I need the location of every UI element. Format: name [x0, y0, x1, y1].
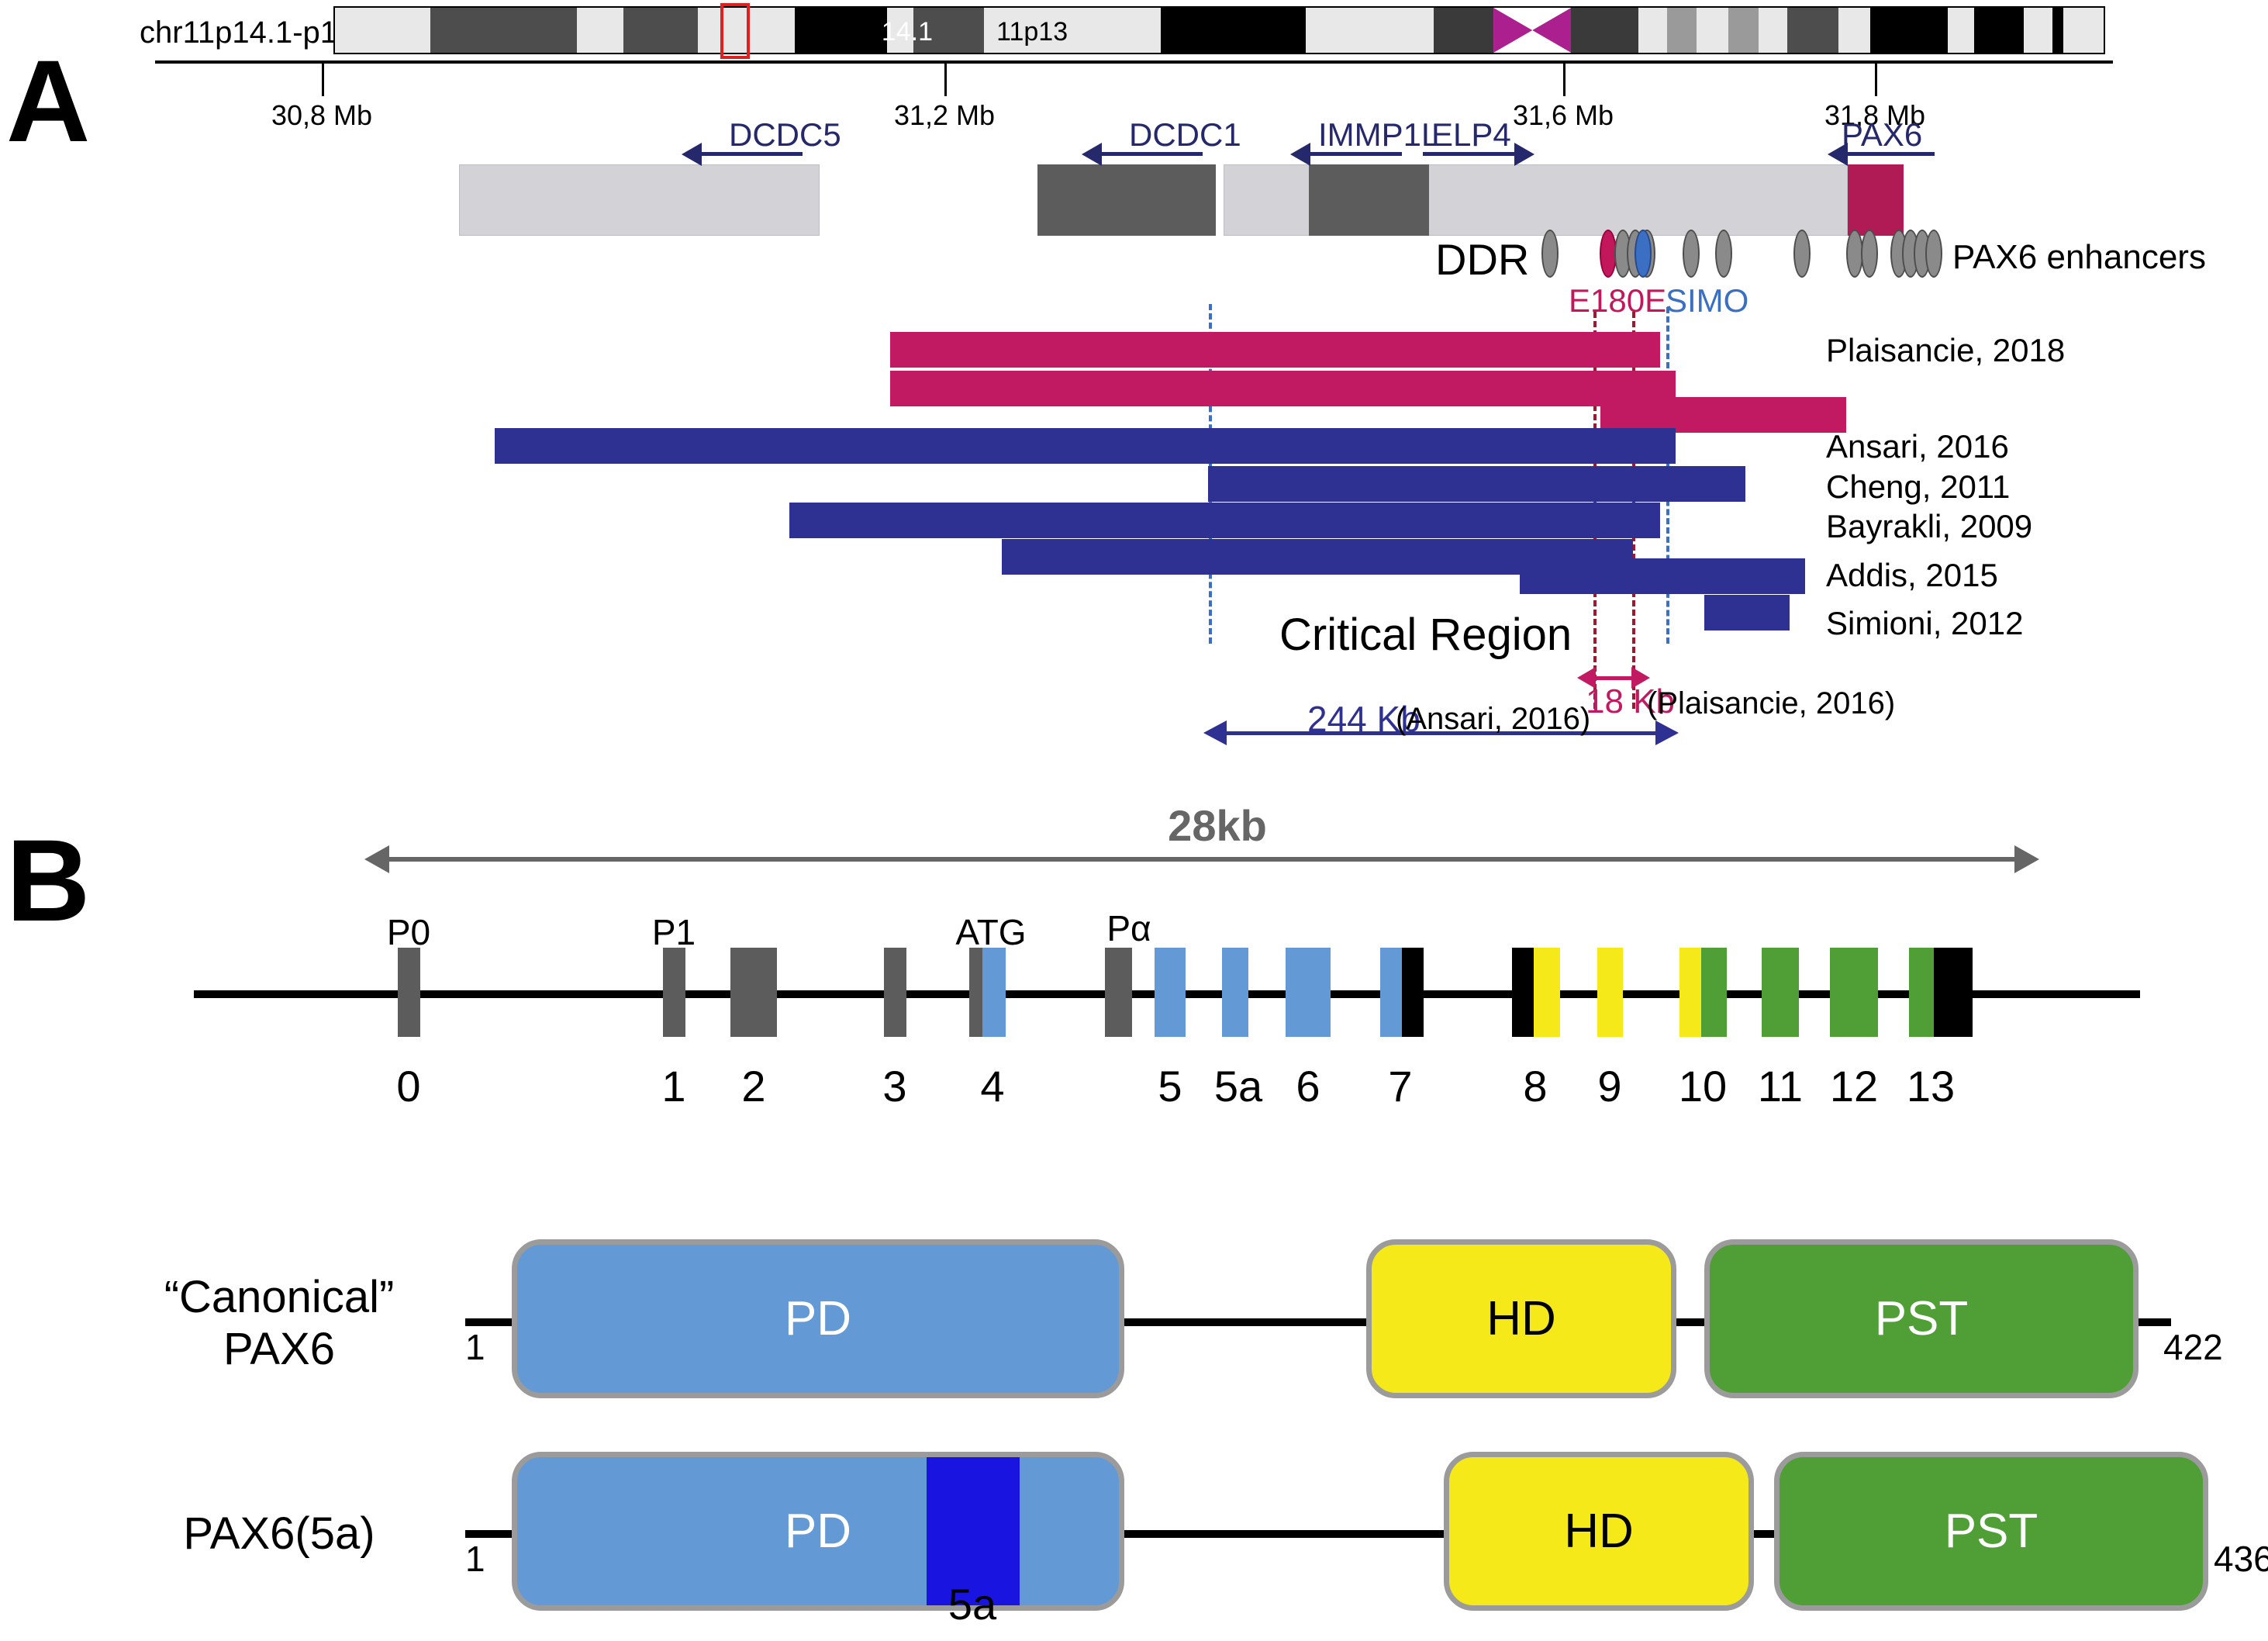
ideogram-band — [1161, 8, 1306, 53]
atg-label: ATG — [955, 911, 1026, 953]
enhancer-oval — [1861, 230, 1878, 278]
exon-label-12: 12 — [1830, 1061, 1878, 1111]
deletion-bar — [1208, 466, 1745, 502]
measure-arrow-244kb-head-right — [1655, 720, 1679, 745]
exon-label-7: 7 — [1388, 1061, 1412, 1111]
aa-start-canonical: 1 — [465, 1326, 485, 1368]
enhancer-oval — [1683, 230, 1700, 278]
deletion-bar — [890, 332, 1660, 368]
ruler-tick — [1875, 64, 1877, 96]
ideogram-band — [1306, 8, 1433, 53]
panel-b-letter: B — [6, 822, 90, 938]
ideogram-band — [1787, 8, 1838, 53]
ideogram-band — [1948, 8, 1974, 53]
ideogram-band — [623, 8, 698, 53]
ideogram-band — [2052, 8, 2063, 53]
strand-arrow-line-elp4 — [1423, 152, 1514, 156]
ideogram-band — [1434, 8, 1494, 53]
measure-arrow-244kb-head-left — [1203, 720, 1227, 745]
publication-label: Bayrakli, 2009 — [1826, 508, 2032, 545]
protein-domain-hd: HD — [1444, 1452, 1754, 1611]
simo-label: SIMO — [1666, 282, 1748, 320]
deletion-bar — [1520, 558, 1805, 594]
protein-domain-pd: PD — [512, 1452, 1124, 1611]
ruler-tick-label: 31,6 Mb — [1513, 99, 1614, 132]
isoform-label-line2: PAX6 — [223, 1324, 335, 1374]
exon-box-10 — [1701, 948, 1727, 1037]
ideogram-band — [2024, 8, 2052, 53]
exon-box-2 — [730, 948, 777, 1037]
publication-label: Addis, 2015 — [1826, 557, 1998, 594]
ruler-tick — [1563, 64, 1566, 96]
chromosome-ideogram: 14.1 11p13 — [333, 6, 2105, 54]
publication-label: Ansari, 2016 — [1826, 428, 2009, 465]
exon-label-4: 4 — [980, 1061, 1004, 1111]
panel-a-letter: A — [6, 43, 90, 159]
ideogram-band — [577, 8, 623, 53]
exon-box-11 — [1762, 948, 1799, 1037]
gene-label-pax6: PAX6 — [1842, 116, 1922, 154]
ideogram-label: chr11p14.1-p13 — [140, 16, 354, 50]
exon-box-7-cds-end — [1402, 948, 1424, 1037]
exon-box-1 — [663, 948, 685, 1037]
enhancer-oval — [1715, 230, 1732, 278]
exon-label-8: 8 — [1523, 1061, 1547, 1111]
deletion-bar — [1704, 595, 1790, 630]
exon-label-3: 3 — [882, 1061, 906, 1111]
strand-arrow-head-elp4 — [1514, 143, 1534, 166]
exon-box-7 — [1380, 948, 1402, 1037]
exon-label-13: 13 — [1907, 1061, 1955, 1111]
exon-label-2: 2 — [741, 1061, 765, 1111]
promoter-label-palpha: Pα — [1106, 907, 1151, 949]
pax6-enhancers-label: PAX6 enhancers — [1952, 238, 2206, 277]
enhancer-oval — [1793, 230, 1811, 278]
ddr-label: DDR — [1435, 234, 1529, 285]
exon-box-5a — [1222, 948, 1248, 1037]
enhancer-oval-simo — [1635, 230, 1652, 278]
gene-label-immp1l: IMMP1L — [1318, 116, 1439, 154]
ideogram-band — [1870, 8, 1948, 53]
ideogram-band — [1838, 8, 1870, 53]
isoform-label-line1: “Canonical” — [164, 1272, 395, 1322]
exon-label-9: 9 — [1597, 1061, 1621, 1111]
e180e-label: E180E — [1569, 282, 1666, 320]
scale-arrow-head-left — [364, 845, 389, 873]
publication-label: Cheng, 2011 — [1826, 468, 2010, 506]
ruler-tick-label: 30,8 Mb — [271, 99, 372, 132]
exon-label-0: 0 — [396, 1061, 420, 1111]
ideogram-band — [430, 8, 577, 53]
exon-box-10-utr — [1679, 948, 1701, 1037]
gene-region-dcdc1 — [1037, 164, 1216, 236]
cytoband-highlight-box — [720, 3, 750, 59]
ruler-tick — [944, 64, 947, 96]
enhancer-oval — [1925, 230, 1942, 278]
ideogram-band — [1974, 8, 2024, 53]
deletion-bar — [495, 428, 1676, 464]
genomic-ruler — [155, 60, 2113, 64]
publication-label: Plaisancie, 2018 — [1826, 332, 2065, 369]
strand-arrow-line-immp1l — [1310, 152, 1402, 156]
exon-box-4 — [982, 948, 1006, 1037]
protein-domain-pst: PST — [1774, 1452, 2208, 1611]
gene-region-immp1l — [1309, 164, 1429, 236]
exon-box-13 — [1909, 948, 1934, 1037]
ideogram-band — [1759, 8, 1786, 53]
measure-arrow-18kb-line — [1594, 676, 1631, 680]
ideogram-band — [795, 8, 887, 53]
promoter-label-p0: P0 — [387, 911, 430, 953]
isoform-label-canonical: “Canonical” PAX6 — [116, 1272, 442, 1375]
ideogram-band — [1728, 8, 1759, 53]
strand-arrow-head-dcdc5 — [682, 143, 702, 166]
enhancer-oval — [1541, 230, 1559, 278]
critical-region-label: Critical Region — [1279, 609, 1572, 661]
ideogram-band — [1571, 8, 1638, 53]
exon-box-8-utr — [1512, 948, 1534, 1037]
aa-end-canonical: 422 — [2163, 1326, 2223, 1368]
ruler-tick — [322, 64, 324, 96]
exon-label-5: 5 — [1158, 1061, 1182, 1111]
strand-arrow-line-pax6 — [1848, 152, 1935, 156]
gene-region-dcdc5 — [459, 164, 820, 236]
isoform-label-line1: PAX6(5a) — [183, 1508, 375, 1559]
ideogram-band — [1638, 8, 1666, 53]
cytoband-label-14-1: 14.1 — [882, 17, 933, 47]
cytoband-label-11p13: 11p13 — [996, 17, 1068, 47]
publication-label: Simioni, 2012 — [1826, 605, 2023, 642]
exon-label-5a: 5a — [1214, 1061, 1262, 1111]
exon-label-1: 1 — [661, 1061, 685, 1111]
exon-box-12 — [1830, 948, 1878, 1037]
exon-box-8 — [1534, 948, 1560, 1037]
ruler-tick-label: 31,2 Mb — [894, 99, 995, 132]
exon-box-5 — [1155, 948, 1186, 1037]
ideogram-band — [2063, 8, 2104, 53]
exon-label-10: 10 — [1679, 1061, 1727, 1111]
deletion-bar — [789, 503, 1660, 538]
measure-source-244kb: (Ansari, 2016) — [1396, 702, 1590, 737]
aa-end-pax6-5a: 436 — [2214, 1538, 2268, 1580]
scale-label-28kb: 28kb — [1168, 800, 1267, 851]
exon-box-palpha — [1105, 948, 1132, 1037]
gene-label-elp4: ELP4 — [1431, 116, 1511, 154]
exon-box-4-utr — [969, 948, 982, 1037]
promoter-label-p1: P1 — [652, 911, 696, 953]
exon-label-11: 11 — [1758, 1061, 1803, 1111]
strand-arrow-head-pax6 — [1828, 143, 1848, 166]
ideogram-band — [335, 8, 430, 53]
exon-box-9 — [1597, 948, 1623, 1037]
gene-label-dcdc5: DCDC5 — [729, 116, 841, 154]
measure-source-18kb: (Plaisancie, 2016) — [1647, 686, 1895, 721]
aa-start-pax6-5a: 1 — [465, 1538, 485, 1580]
exon-label-6: 6 — [1296, 1061, 1320, 1111]
strand-arrow-head-immp1l — [1290, 143, 1310, 166]
strand-arrow-line-dcdc1 — [1102, 152, 1203, 156]
gene-region-pax6 — [1848, 164, 1904, 236]
isoform-label-pax6-5a: PAX6(5a) — [116, 1508, 442, 1560]
protein-domain-pd: PD — [512, 1239, 1124, 1398]
exon-box-6 — [1286, 948, 1331, 1037]
gene-label-dcdc1: DCDC1 — [1129, 116, 1241, 154]
strand-arrow-head-dcdc1 — [1082, 143, 1102, 166]
protein-domain-hd: HD — [1366, 1239, 1676, 1398]
deletion-bar — [890, 371, 1676, 406]
exon-box-3 — [884, 948, 906, 1037]
ideogram-band — [1667, 8, 1697, 53]
ideogram-band — [1697, 8, 1728, 53]
scale-arrow-head-right — [2014, 845, 2039, 873]
strand-arrow-line-dcdc5 — [702, 152, 803, 156]
scale-arrow-line — [388, 857, 2016, 862]
exon-box-13-utr — [1934, 948, 1973, 1037]
protein-domain-pst: PST — [1704, 1239, 2139, 1398]
exon-5a-insert-label: 5a — [948, 1579, 996, 1629]
exon-box-0 — [398, 948, 420, 1037]
